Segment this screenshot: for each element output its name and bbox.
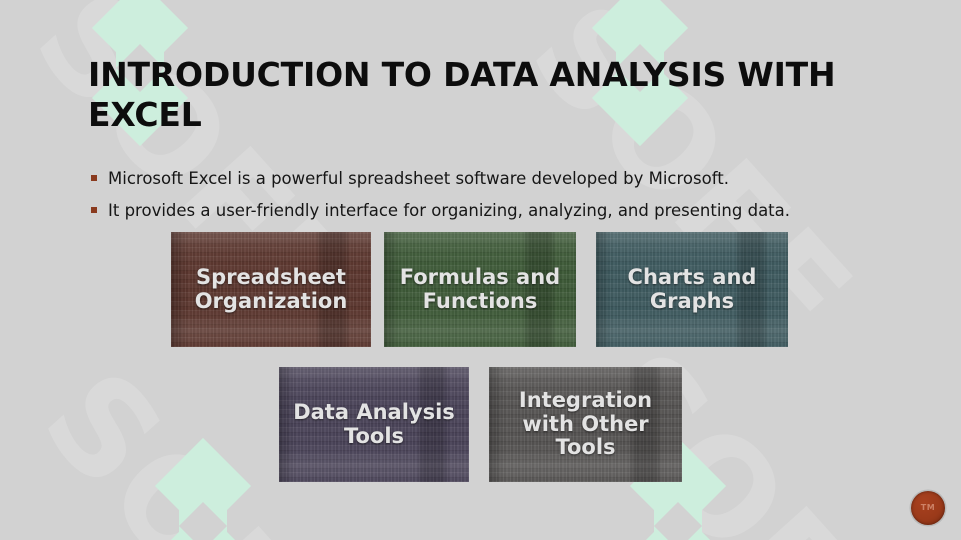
feature-card-label: Data Analysis Tools	[289, 401, 459, 449]
feature-card-label: Charts and Graphs	[606, 266, 778, 314]
bullet-marker-icon	[91, 207, 97, 213]
feature-card-integration-with-other-tools[interactable]: Integration with Other Tools	[489, 367, 682, 482]
slide-title: INTRODUCTION TO DATA ANALYSIS WITH EXCEL	[88, 55, 878, 136]
watermark-chevron-icon	[155, 452, 251, 540]
feature-card-data-analysis-tools[interactable]: Data Analysis Tools	[279, 367, 469, 482]
bullet-marker-icon	[91, 175, 97, 181]
corner-badge[interactable]: TM	[911, 491, 945, 525]
list-item: It provides a user-friendly interface fo…	[88, 200, 863, 221]
feature-card-label: Integration with Other Tools	[499, 389, 672, 461]
feature-card-label: Spreadsheet Organization	[181, 266, 361, 314]
bullet-text: Microsoft Excel is a powerful spreadshee…	[108, 169, 729, 188]
feature-card-charts-and-graphs[interactable]: Charts and Graphs	[596, 232, 788, 347]
bullet-list: Microsoft Excel is a powerful spreadshee…	[88, 168, 863, 232]
list-item: Microsoft Excel is a powerful spreadshee…	[88, 168, 863, 189]
slide-canvas: SOFF SOFF SOFF SOFF INTRODUCTION TO DATA…	[0, 0, 961, 540]
feature-card-spreadsheet-organization[interactable]: Spreadsheet Organization	[171, 232, 371, 347]
feature-card-formulas-and-functions[interactable]: Formulas and Functions	[384, 232, 576, 347]
badge-mark: TM	[921, 504, 935, 512]
bullet-text: It provides a user-friendly interface fo…	[108, 201, 790, 220]
feature-card-label: Formulas and Functions	[394, 266, 566, 314]
